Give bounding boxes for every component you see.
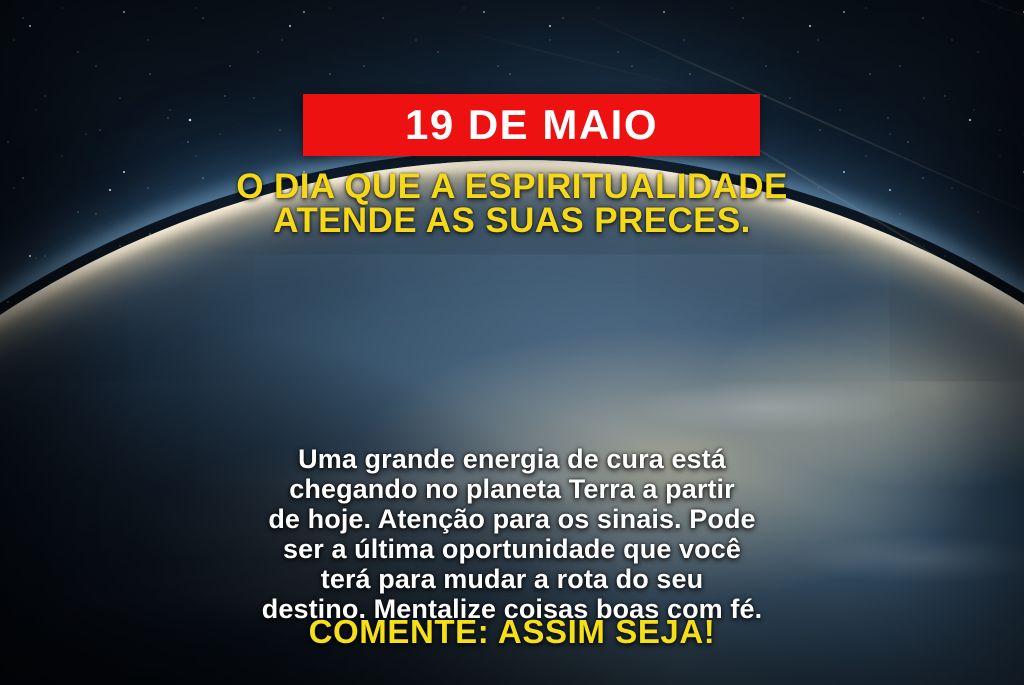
poster-canvas: 19 DE MAIO O DIA QUE A ESPIRITUALIDADE A… bbox=[0, 0, 1024, 685]
date-banner-text: 19 DE MAIO bbox=[405, 104, 658, 146]
date-banner: 19 DE MAIO bbox=[303, 94, 760, 156]
body-line-4: ser a última oportunidade que você bbox=[48, 534, 976, 564]
body-line-3: de hoje. Atenção para os sinais. Pode bbox=[48, 504, 976, 534]
body-line-5: terá para mudar a rota do seu bbox=[48, 564, 976, 594]
call-to-action: COMENTE: ASSIM SEJA! bbox=[0, 614, 1024, 650]
body-copy: Uma grande energia de cura está chegando… bbox=[48, 444, 976, 624]
body-line-2: chegando no planeta Terra a partir bbox=[48, 474, 976, 504]
body-line-1: Uma grande energia de cura está bbox=[48, 444, 976, 474]
headline-line-2: ATENDE AS SUAS PRECES. bbox=[0, 204, 1024, 238]
headline: O DIA QUE A ESPIRITUALIDADE ATENDE AS SU… bbox=[0, 170, 1024, 238]
poster-content: 19 DE MAIO O DIA QUE A ESPIRITUALIDADE A… bbox=[0, 0, 1024, 685]
cta-text: COMENTE: ASSIM SEJA! bbox=[309, 613, 716, 650]
headline-line-1: O DIA QUE A ESPIRITUALIDADE bbox=[0, 170, 1024, 204]
